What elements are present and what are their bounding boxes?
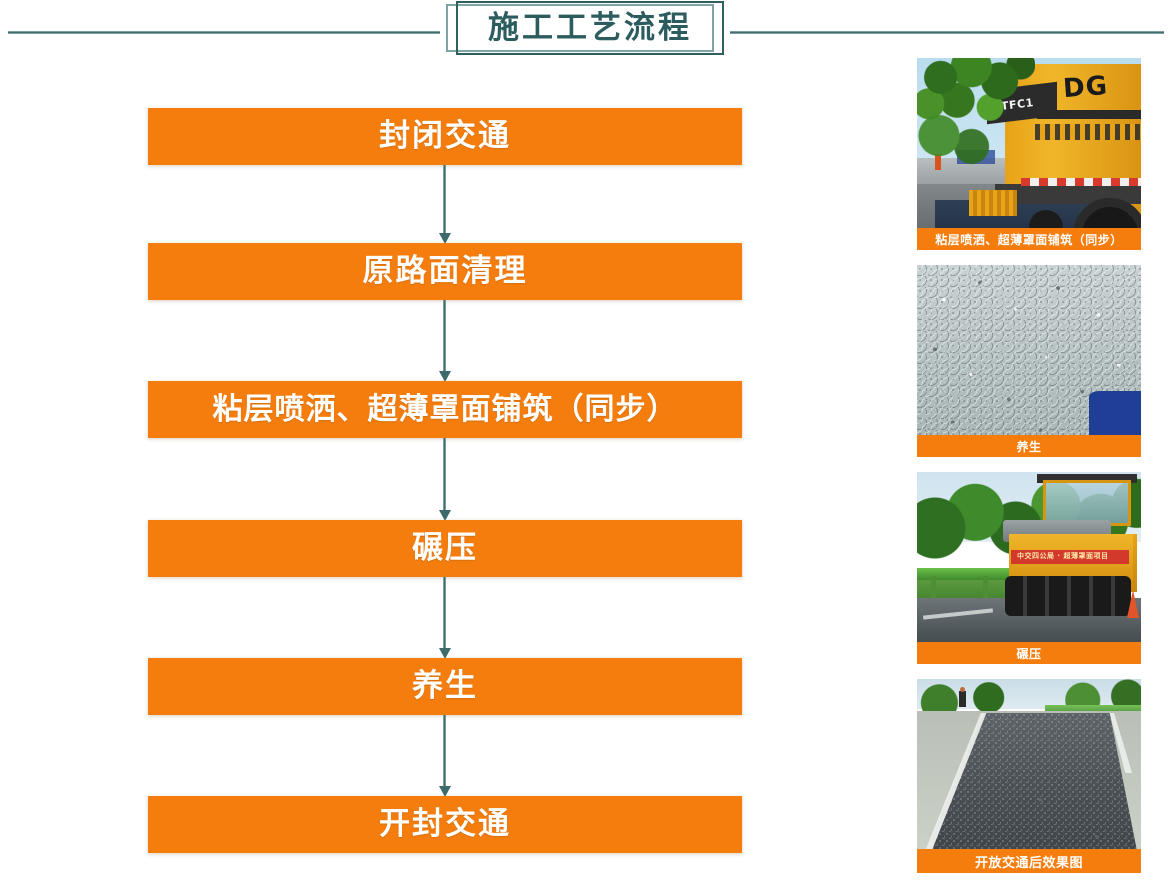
flow-step-1[interactable]: 封闭交通 bbox=[148, 108, 742, 165]
flow-arrow-1 bbox=[443, 165, 447, 235]
flow-step-6-label: 开封交通 bbox=[379, 809, 511, 840]
distant-rider bbox=[959, 691, 966, 707]
flow-arrow-5 bbox=[443, 715, 447, 788]
arrow-shaft bbox=[443, 165, 446, 235]
roller-pneumatic-tires bbox=[1005, 576, 1131, 616]
flow-step-1-label: 封闭交通 bbox=[379, 121, 511, 152]
flow-arrow-3 bbox=[443, 438, 447, 512]
arrow-shaft bbox=[443, 300, 446, 373]
distant-rider-head bbox=[960, 687, 965, 692]
photo-card-2[interactable]: 养生 bbox=[917, 265, 1141, 457]
flow-arrow-4 bbox=[443, 577, 447, 650]
photo-1-caption: 粘层喷洒、超薄罩面铺筑（同步） bbox=[917, 228, 1141, 250]
photo-gallery: DG TFC1 粘层喷洒、超薄罩面铺筑（同步） 养生 bbox=[917, 58, 1141, 873]
photo-card-4[interactable]: 开放交通后效果图 bbox=[917, 679, 1141, 873]
truck-grille bbox=[1035, 124, 1141, 140]
arrow-shaft bbox=[443, 438, 446, 512]
flow-step-5[interactable]: 养生 bbox=[148, 658, 742, 715]
guardrail-post bbox=[931, 576, 936, 598]
roller-body-text: 中交四公局 · 超薄罩面项目 bbox=[1017, 551, 1125, 561]
title-frame-inner: 施工工艺流程 bbox=[456, 1, 724, 55]
photo-2-image bbox=[917, 265, 1141, 457]
arrow-shaft bbox=[443, 715, 446, 788]
photo-3-caption: 碾压 bbox=[917, 642, 1141, 664]
photo-1-image: DG TFC1 bbox=[917, 58, 1141, 250]
flow-arrow-2 bbox=[443, 300, 447, 373]
flow-step-6[interactable]: 开封交通 bbox=[148, 796, 742, 853]
photo-card-3[interactable]: 中交四公局 · 超薄罩面项目 碾压 bbox=[917, 472, 1141, 664]
truck-brand-text: DG bbox=[1062, 70, 1124, 102]
photo-2-caption: 养生 bbox=[917, 435, 1141, 457]
reflective-stripe bbox=[1021, 178, 1141, 186]
process-flowchart: 封闭交通 原路面清理 粘层喷洒、超薄罩面铺筑（同步） 碾压 养生 开封交通 bbox=[148, 108, 742, 848]
flow-step-3-label: 粘层喷洒、超薄罩面铺筑（同步） bbox=[213, 395, 678, 425]
photo-3-image: 中交四公局 · 超薄罩面项目 bbox=[917, 472, 1141, 664]
guardrail-post bbox=[983, 576, 988, 598]
page-title: 施工工艺流程 bbox=[488, 13, 692, 44]
flow-step-2-label: 原路面清理 bbox=[363, 256, 528, 287]
photo-4-image bbox=[917, 679, 1141, 873]
flow-step-3[interactable]: 粘层喷洒、超薄罩面铺筑（同步） bbox=[148, 381, 742, 438]
arrow-shaft bbox=[443, 577, 446, 650]
flow-step-5-label: 养生 bbox=[412, 671, 478, 702]
header-band: 施工工艺流程 bbox=[0, 0, 1172, 62]
photo-4-caption: 开放交通后效果图 bbox=[917, 849, 1141, 873]
traffic-cone bbox=[1127, 590, 1139, 618]
tree-canopy-lower bbox=[917, 114, 1005, 168]
header-rule-left bbox=[8, 31, 440, 34]
flow-step-4[interactable]: 碾压 bbox=[148, 520, 742, 577]
photo-card-1[interactable]: DG TFC1 粘层喷洒、超薄罩面铺筑（同步） bbox=[917, 58, 1141, 250]
flow-step-2[interactable]: 原路面清理 bbox=[148, 243, 742, 300]
header-rule-right bbox=[730, 31, 1164, 34]
flow-step-4-label: 碾压 bbox=[412, 533, 478, 564]
spray-bar bbox=[969, 190, 1017, 216]
